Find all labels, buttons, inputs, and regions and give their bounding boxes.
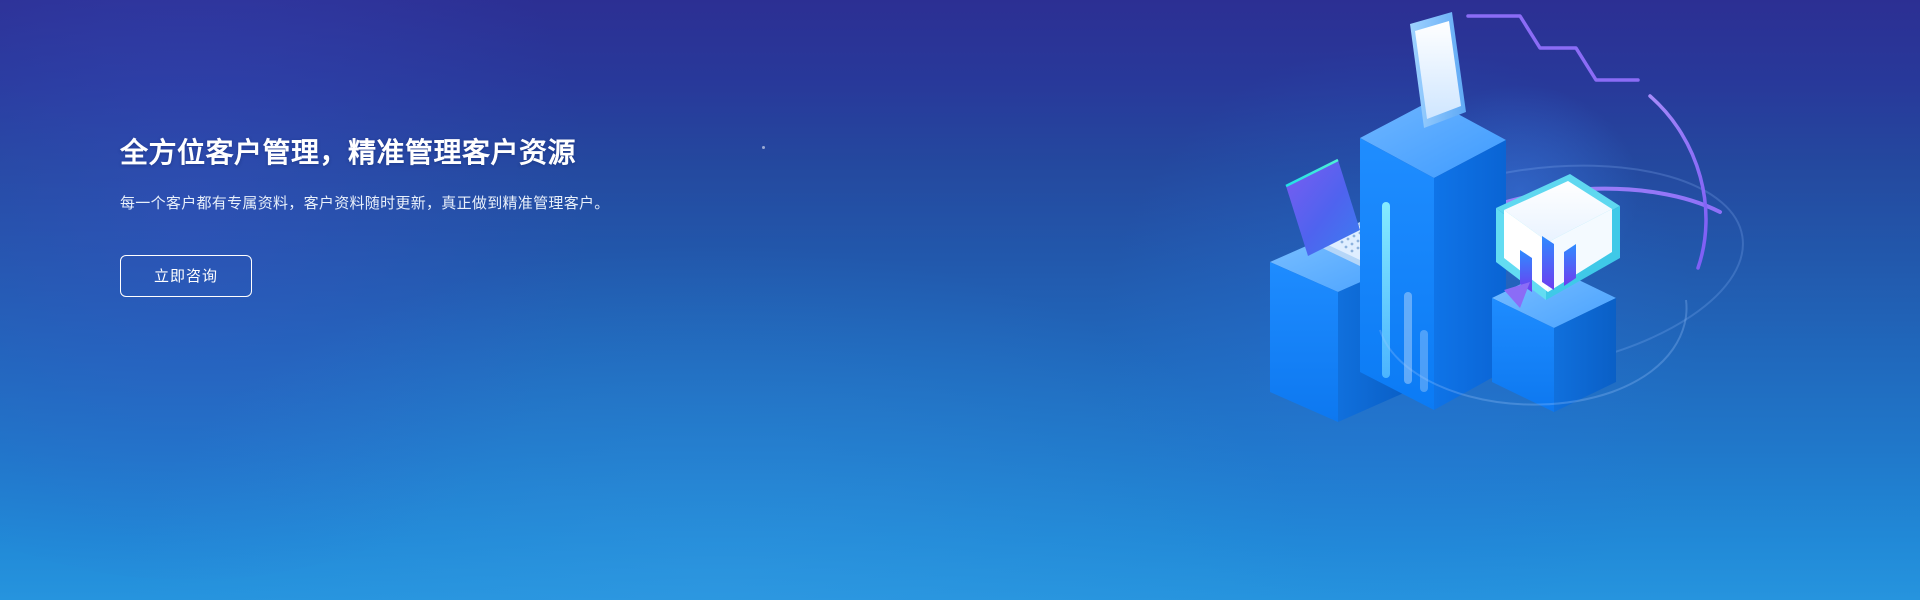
sparkle-dot-icon: [762, 146, 765, 149]
pillar-center-tall: [1360, 100, 1506, 410]
hero-illustration: [1220, 0, 1920, 600]
hero-banner: 全方位客户管理，精准管理客户资源 每一个客户都有专属资料，客户资料随时更新，真正…: [0, 0, 1920, 600]
consult-now-button[interactable]: 立即咨询: [120, 255, 252, 297]
hero-copy-block: 全方位客户管理，精准管理客户资源 每一个客户都有专属资料，客户资料随时更新，真正…: [120, 135, 740, 297]
hero-subtitle: 每一个客户都有专属资料，客户资料随时更新，真正做到精准管理客户。: [120, 192, 612, 217]
monitor-bar-2: [1542, 236, 1554, 290]
page-title: 全方位客户管理，精准管理客户资源: [120, 135, 740, 170]
